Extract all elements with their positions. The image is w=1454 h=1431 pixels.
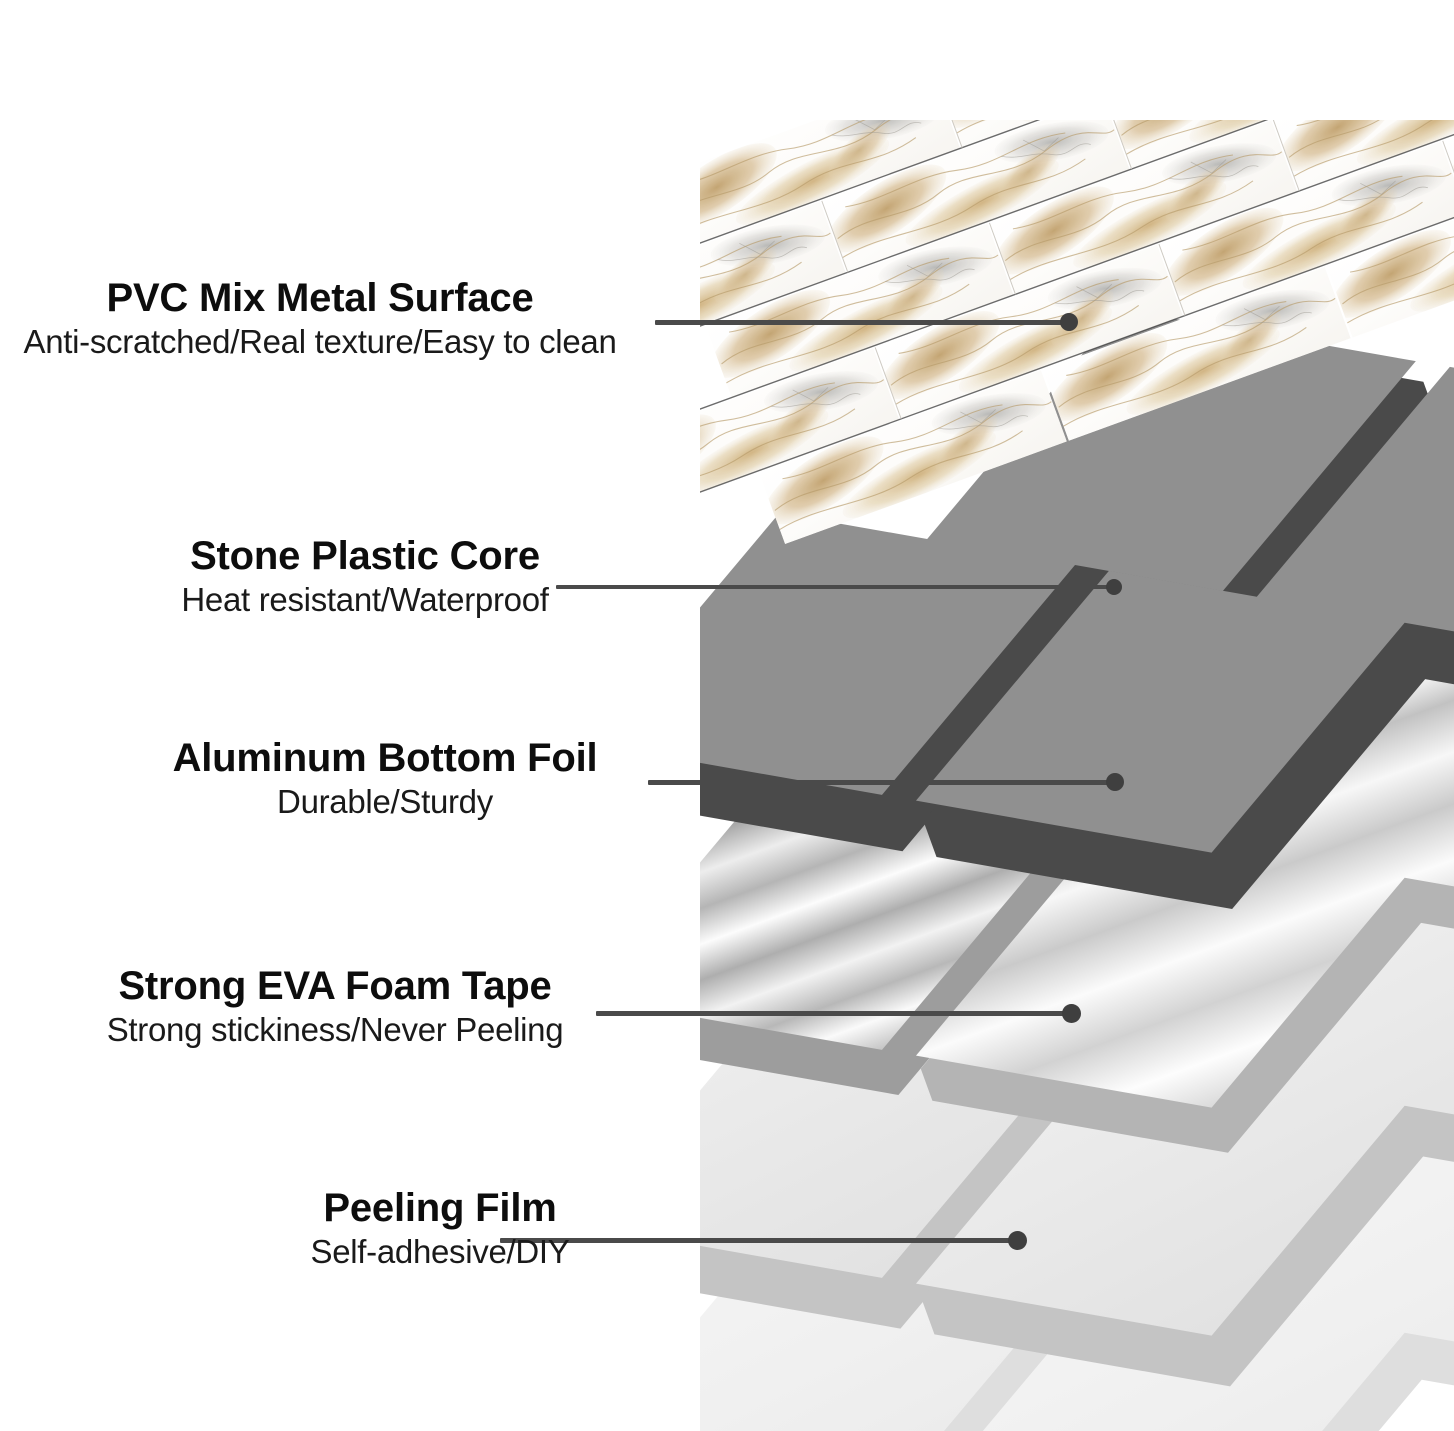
callout-subtitle: Heat resistant/Waterproof [85,579,645,621]
page-title: PRODUCT STRUCTURE [141,0,1271,84]
callout-title: Aluminum Bottom Foil [105,735,665,781]
callout-subtitle: Strong stickiness/Never Peeling [55,1009,615,1051]
leader-line-aluminum-foil [648,780,1116,785]
layer-peeling-film [509,831,1454,1431]
callout-title: PVC Mix Metal Surface [0,275,640,321]
marble-row [740,49,1454,560]
callout-stone-plastic-core: Stone Plastic Core Heat resistant/Waterp… [85,533,645,621]
callout-title: Stone Plastic Core [85,533,645,579]
leader-dot-peeling-film [1008,1231,1027,1250]
leader-line-eva-foam [596,1011,1074,1016]
callout-aluminum-bottom-foil: Aluminum Bottom Foil Durable/Sturdy [105,735,665,823]
callout-subtitle: Anti-scratched/Real texture/Easy to clea… [0,321,640,363]
callout-strong-eva-foam-tape: Strong EVA Foam Tape Strong stickiness/N… [55,963,615,1051]
layer-eva-foam-tape [509,604,1454,1431]
layer-stone-plastic-core [509,121,1454,1097]
callout-title: Peeling Film [160,1185,720,1231]
callout-pvc-mix-metal-surface: PVC Mix Metal Surface Anti-scratched/Rea… [0,275,640,363]
callout-subtitle: Durable/Sturdy [105,781,665,823]
leader-dot-stone-core [1106,579,1122,595]
leader-dot-aluminum-foil [1106,773,1124,791]
leader-dot-pvc-surface [1060,313,1078,331]
leader-dot-eva-foam [1062,1004,1081,1023]
callout-peeling-film: Peeling Film Self-adhesive/DIY [160,1185,720,1273]
product-structure-infographic: PRODUCT STRUCTURE [0,0,1454,1431]
callout-subtitle: Self-adhesive/DIY [160,1231,720,1273]
callout-title: Strong EVA Foam Tape [55,963,615,1009]
leader-line-pvc-surface [655,320,1070,325]
